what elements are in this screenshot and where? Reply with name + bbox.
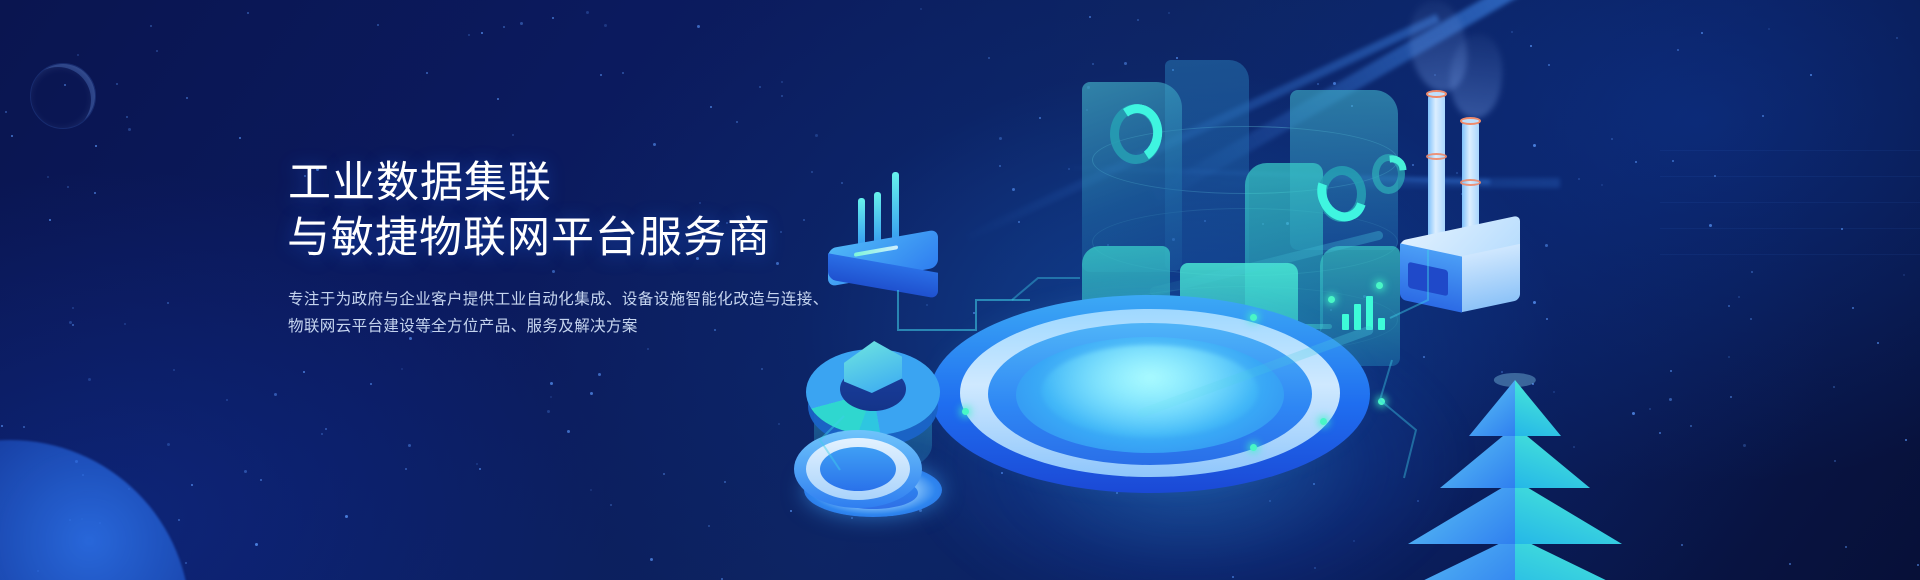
star-particle — [88, 378, 91, 381]
star-particle — [503, 26, 505, 28]
star-particle — [11, 135, 13, 137]
star-particle — [186, 97, 188, 99]
star-particle — [590, 392, 593, 395]
star-particle — [736, 121, 738, 123]
star-particle — [185, 562, 187, 564]
star-particle — [244, 470, 247, 473]
crescent-moon-icon — [30, 63, 96, 129]
star-particle — [150, 25, 152, 27]
star-particle — [647, 348, 649, 350]
star-particle — [95, 145, 97, 147]
star-particle — [49, 219, 51, 221]
star-particle — [255, 543, 258, 546]
star-particle — [759, 86, 761, 88]
star-particle — [69, 321, 72, 324]
star-particle — [167, 302, 169, 304]
star-particle — [47, 176, 49, 178]
star-particle — [586, 11, 589, 14]
star-particle — [567, 430, 570, 433]
star-particle — [479, 468, 481, 470]
star-particle — [468, 34, 470, 36]
star-particle — [497, 98, 499, 100]
hero-banner: 工业数据集联 与敏捷物联网平台服务商 专注于为政府与企业客户提供工业自动化集成、… — [0, 0, 1920, 580]
star-particle — [663, 473, 665, 475]
star-particle — [600, 74, 602, 76]
star-particle — [124, 323, 126, 325]
star-particle — [650, 558, 653, 561]
star-particle — [550, 382, 553, 385]
star-particle — [325, 428, 327, 430]
star-particle — [550, 396, 552, 398]
star-particle — [156, 50, 158, 52]
star-particle — [604, 24, 607, 27]
star-particle — [598, 373, 601, 376]
star-particle — [239, 137, 241, 139]
star-particle — [761, 368, 763, 370]
star-particle — [303, 371, 305, 373]
star-particle — [405, 468, 407, 470]
star-particle — [610, 504, 612, 506]
star-particle — [94, 192, 96, 194]
star-particle — [697, 25, 700, 28]
hero-illustration — [780, 0, 1920, 580]
star-particle — [481, 32, 483, 34]
star-particle — [622, 72, 624, 74]
star-particle — [377, 24, 379, 26]
star-particle — [191, 484, 193, 486]
star-particle — [173, 369, 175, 371]
star-particle — [128, 128, 131, 131]
star-particle — [708, 525, 710, 527]
star-particle — [408, 444, 411, 447]
star-particle — [512, 134, 514, 136]
star-particle — [476, 463, 478, 465]
star-particle — [67, 186, 69, 188]
star-particle — [77, 54, 79, 56]
star-particle — [167, 443, 170, 446]
star-particle — [590, 489, 592, 491]
star-particle — [653, 143, 656, 146]
star-particle — [178, 519, 180, 521]
star-particle — [520, 22, 523, 25]
star-particle — [345, 515, 348, 518]
star-particle — [710, 106, 712, 108]
star-particle — [72, 307, 74, 309]
star-particle — [1, 425, 3, 427]
star-particle — [547, 410, 550, 413]
star-particle — [426, 72, 428, 74]
star-particle — [724, 481, 726, 483]
star-particle — [260, 479, 262, 481]
star-particle — [72, 324, 74, 326]
star-particle — [321, 433, 323, 435]
star-particle — [23, 426, 25, 428]
star-particle — [5, 111, 7, 113]
star-particle — [126, 116, 128, 118]
star-particle — [552, 17, 554, 19]
star-particle — [226, 399, 228, 401]
star-particle — [401, 368, 403, 370]
planet-globe — [0, 440, 190, 580]
star-particle — [370, 383, 372, 385]
circuit-wires — [780, 0, 1920, 580]
star-particle — [247, 12, 249, 14]
star-particle — [274, 393, 277, 396]
star-particle — [116, 83, 118, 85]
